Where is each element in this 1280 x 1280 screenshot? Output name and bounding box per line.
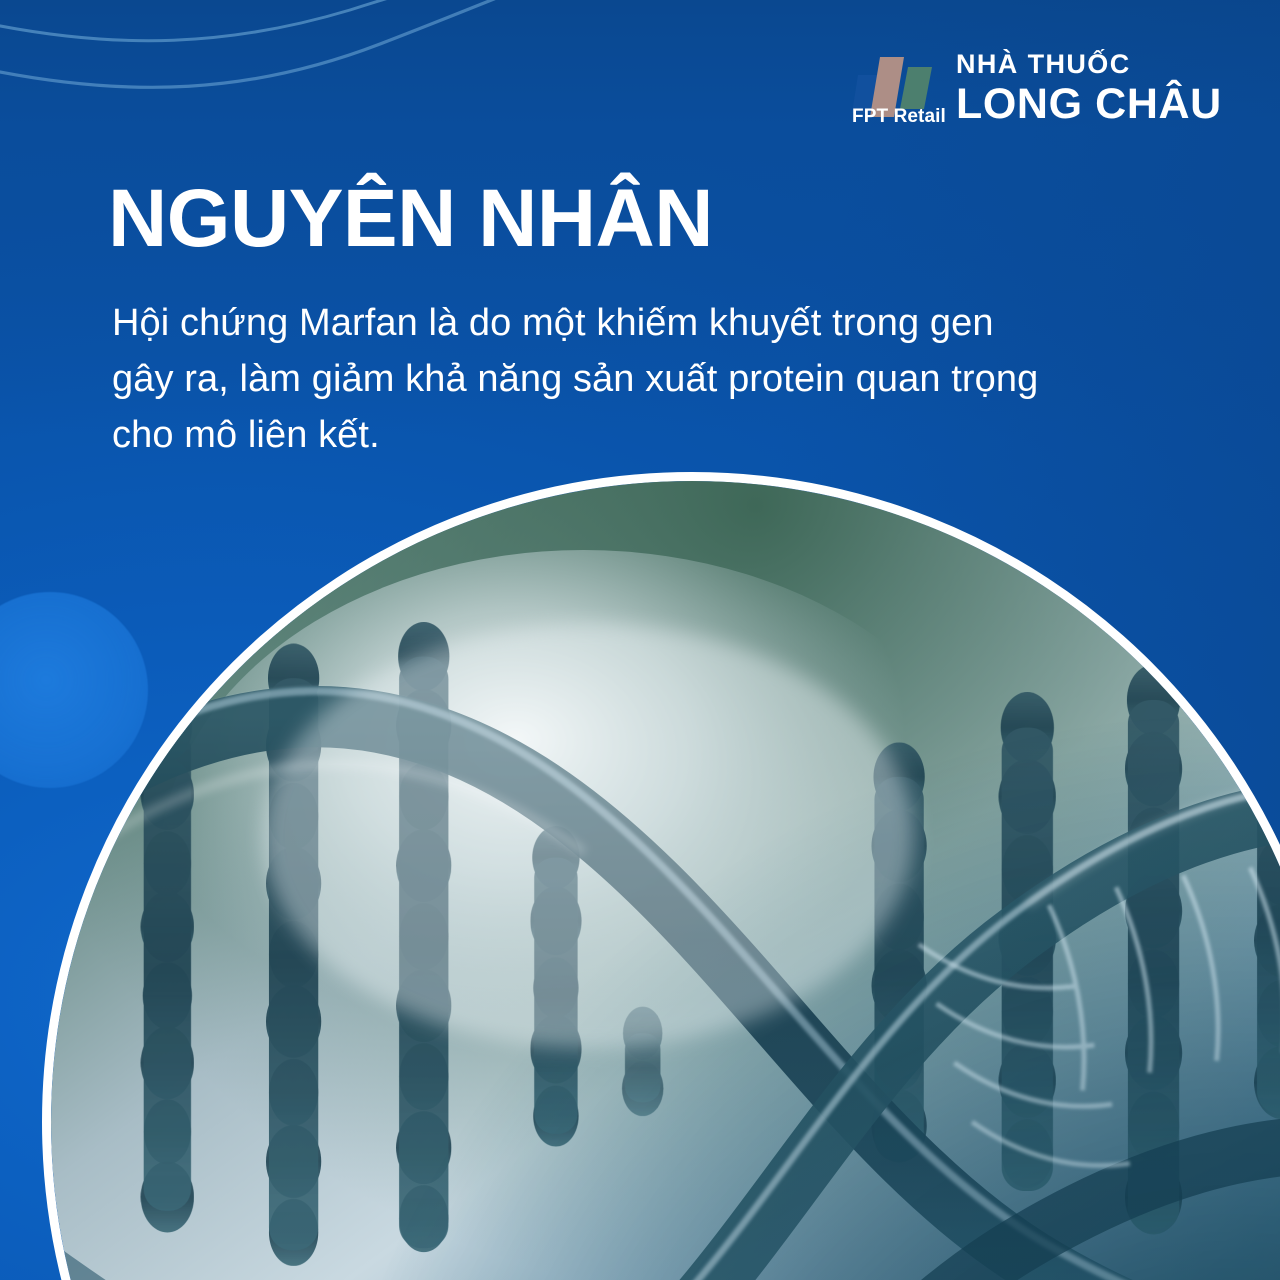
dna-photo-circle (42, 472, 1280, 1280)
brand-logo: FPT Retail NHÀ THUỐC LONG CHÂU (852, 45, 1192, 139)
infographic-poster: FPT Retail NHÀ THUỐC LONG CHÂU NGUYÊN NH… (0, 0, 1280, 1280)
dna-double-helix-icon (51, 481, 1280, 1280)
body-line-3: cho mô liên kết. (112, 408, 1192, 464)
page-title: NGUYÊN NHÂN (108, 178, 713, 260)
body-line-2: gây ra, làm giảm khả năng sản xuất prote… (112, 352, 1192, 408)
brand-line-2: LONG CHÂU (956, 83, 1222, 126)
brand-line-1: NHÀ THUỐC (956, 49, 1131, 80)
fpt-retail-label: FPT Retail (852, 106, 946, 128)
dna-photo-inner (51, 481, 1280, 1280)
body-line-1: Hội chứng Marfan là do một khiếm khuyết … (112, 296, 1192, 352)
body-copy: Hội chứng Marfan là do một khiếm khuyết … (112, 296, 1192, 464)
